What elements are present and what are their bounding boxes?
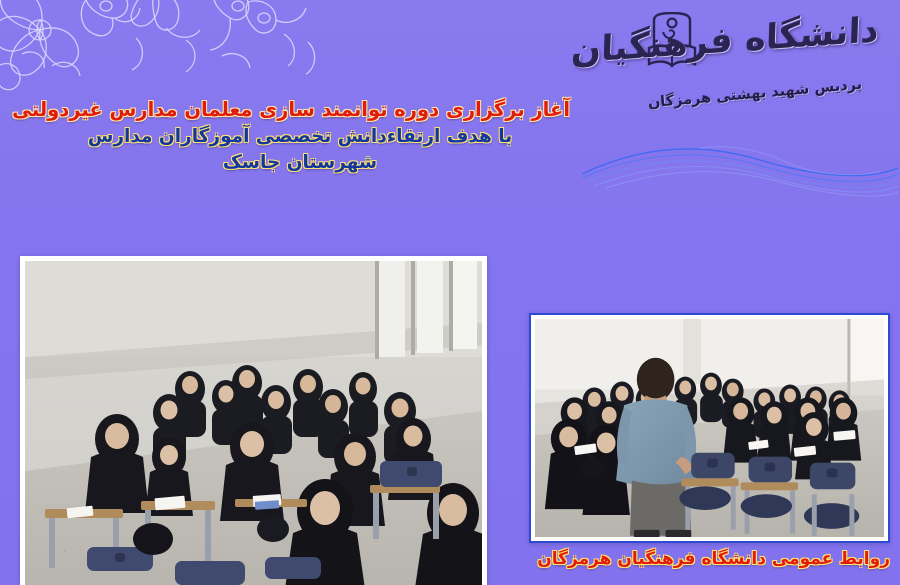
- logo-subtitle: پردیس شهید بهشتی هرمزگان: [640, 76, 871, 112]
- poster-headline: آغاز برگزاری دوره توانمند سازی معلمان مد…: [30, 96, 570, 176]
- footer-caption: روابط عمومی دانشگاه فرهنگیان هرمزگان: [545, 549, 890, 569]
- classroom-wide-scene: [25, 261, 482, 585]
- headline-line-2: با هدف ارتقاءدانش تخصصی آموزگاران مدارس: [30, 124, 570, 150]
- poster-canvas: دانشگاه فرهنگیان پردیس شهید بهشتی هرمزگا…: [0, 0, 900, 585]
- instructor-presenting-scene: [535, 319, 884, 537]
- headline-line-3: شهرستان جاسک: [30, 150, 570, 176]
- instructor-presenting-photo: [529, 313, 890, 543]
- classroom-wide-photo: cfu.ac.ir: [20, 256, 487, 585]
- floral-ornament-icon: [0, 0, 326, 102]
- wave-decoration-icon: [580, 130, 900, 202]
- university-logo: دانشگاه فرهنگیان پردیس شهید بهشتی هرمزگا…: [606, 8, 886, 138]
- headline-line-1: آغاز برگزاری دوره توانمند سازی معلمان مد…: [30, 96, 570, 124]
